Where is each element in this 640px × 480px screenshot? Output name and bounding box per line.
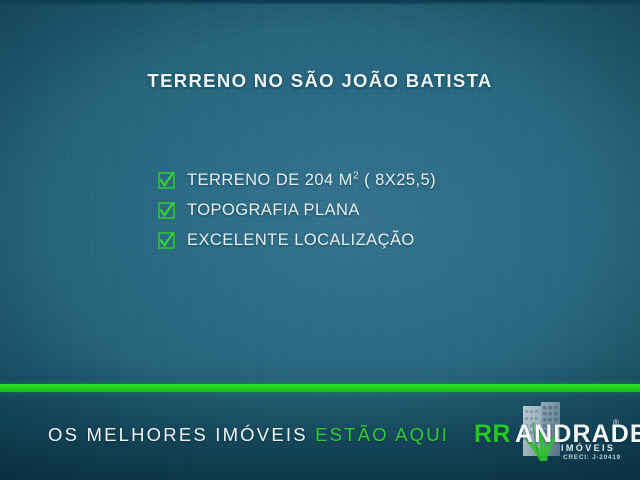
checkbox-check-icon [158,232,175,249]
green-divider [0,380,640,396]
list-item-label: TERRENO DE 204 M2 ( 8X25,5) [187,171,436,190]
list-item: EXCELENTE LOCALIZAÇÃO [158,228,436,252]
tagline-primary: OS MELHORES IMÓVEIS [48,424,308,445]
feature-list: TERRENO DE 204 M2 ( 8X25,5) TOPOGRAFIA P… [158,168,436,252]
brand-logo: RR ANDRADE ® IMÓVEIS CRECI: J-20419 [466,398,636,478]
tagline-accent: ESTÃO AQUI [315,424,449,445]
divider-bar [0,384,640,392]
page-title: TERRENO NO SÃO JOÃO BATISTA [0,70,640,92]
list-item: TERRENO DE 204 M2 ( 8X25,5) [158,168,436,192]
registered-mark-icon: ® [613,418,619,427]
list-item: TOPOGRAFIA PLANA [158,198,436,222]
list-item-label: TOPOGRAFIA PLANA [187,201,360,220]
logo-prefix: RR [474,420,511,449]
real-estate-ad-slide: TERRENO NO SÃO JOÃO BATISTA TERRENO DE 2… [0,0,640,480]
checkbox-check-icon [158,172,175,189]
list-item-label: EXCELENTE LOCALIZAÇÃO [187,231,415,250]
logo-subtitle: IMÓVEIS [561,443,615,453]
top-edge-band [0,0,640,5]
footer-tagline: OS MELHORES IMÓVEIS ESTÃO AQUI [48,424,449,446]
logo-creci-number: CRECI: J-20419 [563,454,621,461]
checkbox-check-icon [158,202,175,219]
